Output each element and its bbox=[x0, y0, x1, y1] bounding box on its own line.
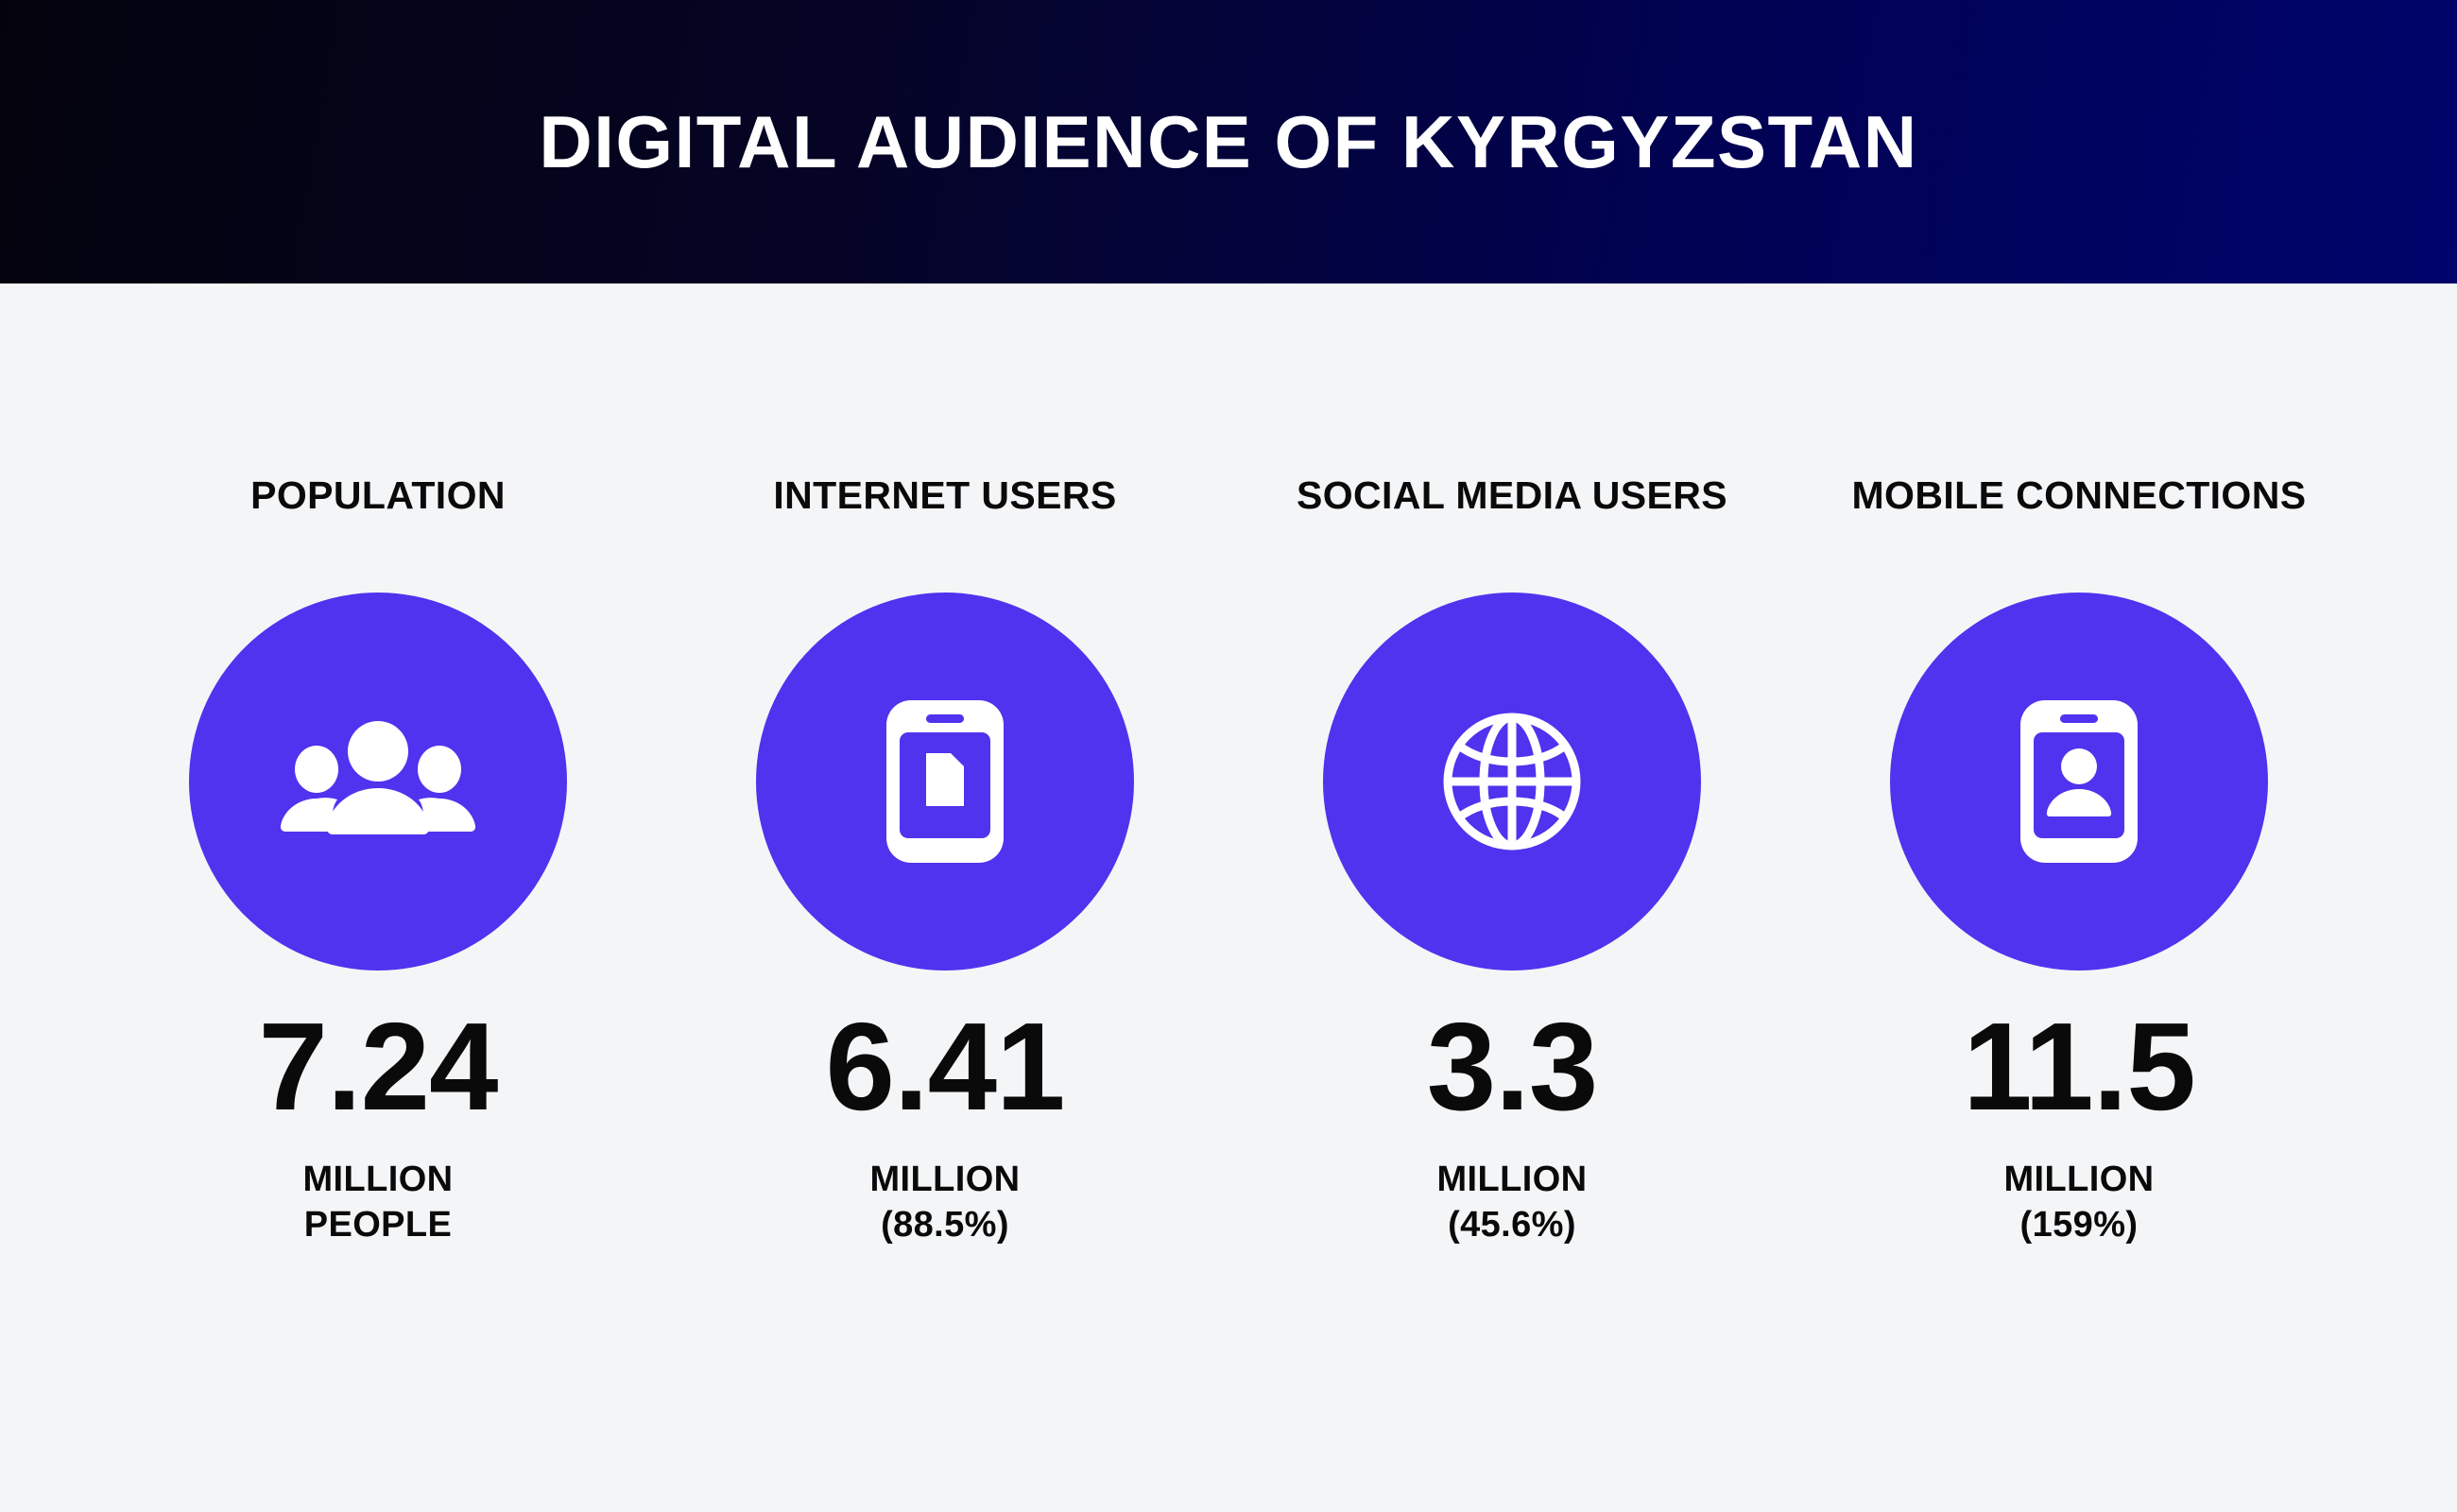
stat-value-social-media-users: 3.3 bbox=[1427, 1005, 1598, 1129]
stat-value-mobile-connections: 11.5 bbox=[1963, 1005, 2195, 1129]
stat-label-internet-users: INTERNET USERS bbox=[773, 472, 1116, 572]
stat-label-mobile-connections: MOBILE CONNECTIONS bbox=[1852, 472, 2307, 572]
icon-circle-population bbox=[189, 593, 567, 971]
stat-label-social-media-users: SOCIAL MEDIA USERS bbox=[1297, 472, 1727, 572]
stat-card-population: POPULATION 7.24 MILLION PEOPLE bbox=[94, 472, 661, 1247]
stat-value-internet-users: 6.41 bbox=[826, 1005, 1065, 1129]
stat-sub-population: MILLION PEOPLE bbox=[303, 1158, 454, 1247]
infographic-root: DIGITAL AUDIENCE OF KYRGYZSTAN POPULATIO… bbox=[0, 0, 2457, 1512]
icon-circle-social-media-users bbox=[1323, 593, 1701, 971]
stat-card-mobile-connections: MOBILE CONNECTIONS 11.5 MILLION (159%) bbox=[1795, 472, 2362, 1247]
stat-card-internet-users: INTERNET USERS 6.41 MILLION (88.5%) bbox=[661, 472, 1228, 1247]
header-banner: DIGITAL AUDIENCE OF KYRGYZSTAN bbox=[0, 0, 2457, 283]
page-title: DIGITAL AUDIENCE OF KYRGYZSTAN bbox=[539, 105, 1917, 179]
people-group-icon bbox=[279, 711, 477, 852]
stats-row: POPULATION 7.24 MILLION PEOPLE bbox=[0, 283, 2457, 1512]
stat-sub-mobile-connections: MILLION (159%) bbox=[2004, 1158, 2155, 1247]
globe-icon bbox=[1440, 710, 1584, 853]
icon-circle-mobile-connections bbox=[1890, 593, 2268, 971]
stat-sub-internet-users: MILLION (88.5%) bbox=[870, 1158, 1021, 1247]
stat-label-population: POPULATION bbox=[250, 472, 506, 572]
stat-value-population: 7.24 bbox=[259, 1005, 498, 1129]
mobile-page-icon bbox=[885, 698, 1005, 865]
icon-circle-internet-users bbox=[756, 593, 1134, 971]
stat-sub-social-media-users: MILLION (45.6%) bbox=[1437, 1158, 1588, 1247]
mobile-user-icon bbox=[2019, 698, 2139, 865]
stat-card-social-media-users: SOCIAL MEDIA USERS 3.3 MILLION (45.6%) bbox=[1228, 472, 1795, 1247]
